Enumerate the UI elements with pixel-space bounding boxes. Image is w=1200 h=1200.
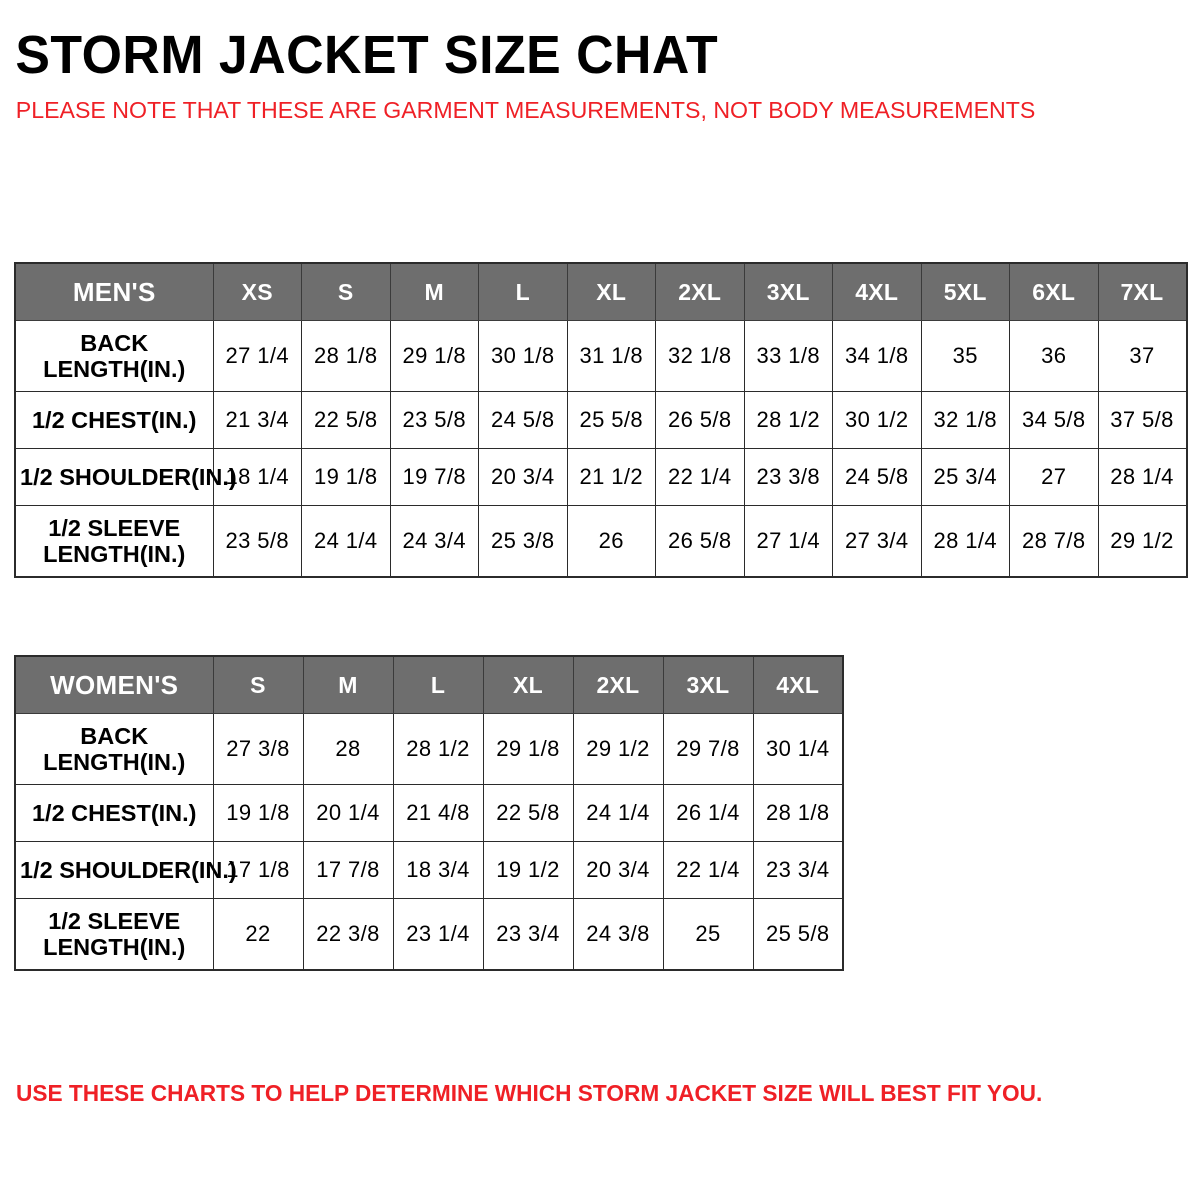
measurement-cell: 28 1/4 bbox=[1098, 449, 1187, 506]
row-label-line: 1/2 CHEST(IN.) bbox=[20, 407, 209, 433]
size-chart-page: STORM JACKET SIZE CHAT PLEASE NOTE THAT … bbox=[0, 0, 1200, 1200]
womens-row-label: 1/2 SLEEVE LENGTH(IN.) bbox=[15, 899, 213, 971]
womens-row-label: 1/2 SHOULDER(IN.) bbox=[15, 842, 213, 899]
mens-size-header: L bbox=[479, 263, 568, 321]
measurement-cell: 22 5/8 bbox=[302, 392, 391, 449]
measurement-cell: 23 3/4 bbox=[483, 899, 573, 971]
womens-table-body: BACK LENGTH(IN.) 27 3/8 28 28 1/2 29 1/8… bbox=[15, 714, 843, 971]
measurement-cell: 24 3/8 bbox=[573, 899, 663, 971]
fit-guidance-note: USE THESE CHARTS TO HELP DETERMINE WHICH… bbox=[16, 1079, 1042, 1109]
row-label-line: 1/2 SLEEVE bbox=[20, 515, 209, 541]
womens-row-label: 1/2 CHEST(IN.) bbox=[15, 785, 213, 842]
measurement-cell: 24 1/4 bbox=[302, 506, 391, 578]
measurement-cell: 30 1/4 bbox=[753, 714, 843, 785]
mens-size-header: 7XL bbox=[1098, 263, 1187, 321]
mens-size-header: 3XL bbox=[744, 263, 833, 321]
measurement-cell: 34 1/8 bbox=[833, 321, 922, 392]
measurement-cell: 19 1/8 bbox=[213, 785, 303, 842]
measurement-cell: 29 1/2 bbox=[1098, 506, 1187, 578]
womens-size-header: 3XL bbox=[663, 656, 753, 714]
measurement-cell: 20 3/4 bbox=[573, 842, 663, 899]
measurement-cell: 25 3/4 bbox=[921, 449, 1010, 506]
measurement-cell: 28 bbox=[303, 714, 393, 785]
measurement-cell: 25 5/8 bbox=[567, 392, 656, 449]
row-label-line: 1/2 SHOULDER(IN.) bbox=[20, 464, 209, 490]
womens-size-header: 4XL bbox=[753, 656, 843, 714]
measurement-cell: 30 1/8 bbox=[479, 321, 568, 392]
womens-size-table-container: WOMEN'S S M L XL 2XL 3XL 4XL BACK LENGTH… bbox=[14, 655, 844, 971]
page-title: STORM JACKET SIZE CHAT bbox=[0, 0, 1152, 84]
row-label-line: 1/2 CHEST(IN.) bbox=[20, 800, 209, 826]
measurement-cell: 28 1/2 bbox=[744, 392, 833, 449]
mens-size-header: 2XL bbox=[656, 263, 745, 321]
row-label-line: BACK bbox=[20, 330, 209, 356]
womens-size-header: 2XL bbox=[573, 656, 663, 714]
womens-header-row: WOMEN'S S M L XL 2XL 3XL 4XL bbox=[15, 656, 843, 714]
measurement-cell: 26 5/8 bbox=[656, 392, 745, 449]
table-row: BACK LENGTH(IN.) 27 1/4 28 1/8 29 1/8 30… bbox=[15, 321, 1187, 392]
womens-row-label: BACK LENGTH(IN.) bbox=[15, 714, 213, 785]
measurement-cell: 21 1/2 bbox=[567, 449, 656, 506]
measurement-cell: 27 bbox=[1010, 449, 1099, 506]
measurement-cell: 20 1/4 bbox=[303, 785, 393, 842]
mens-row-label: 1/2 CHEST(IN.) bbox=[15, 392, 213, 449]
measurement-cell: 19 7/8 bbox=[390, 449, 479, 506]
measurement-cell: 26 bbox=[567, 506, 656, 578]
measurement-cell: 23 5/8 bbox=[213, 506, 302, 578]
measurement-cell: 27 1/4 bbox=[744, 506, 833, 578]
row-label-line: LENGTH(IN.) bbox=[20, 934, 209, 960]
womens-size-header: M bbox=[303, 656, 393, 714]
measurement-cell: 17 1/8 bbox=[213, 842, 303, 899]
measurement-cell: 22 1/4 bbox=[663, 842, 753, 899]
measurement-cell: 28 1/2 bbox=[393, 714, 483, 785]
measurement-cell: 27 1/4 bbox=[213, 321, 302, 392]
measurement-cell: 34 5/8 bbox=[1010, 392, 1099, 449]
measurement-cell: 24 5/8 bbox=[833, 449, 922, 506]
measurement-cell: 21 4/8 bbox=[393, 785, 483, 842]
measurement-cell: 25 5/8 bbox=[753, 899, 843, 971]
womens-table-head: WOMEN'S S M L XL 2XL 3XL 4XL bbox=[15, 656, 843, 714]
measurement-cell: 25 3/8 bbox=[479, 506, 568, 578]
measurement-cell: 28 1/8 bbox=[753, 785, 843, 842]
measurement-cell: 22 1/4 bbox=[656, 449, 745, 506]
womens-size-header: S bbox=[213, 656, 303, 714]
mens-size-header: XL bbox=[567, 263, 656, 321]
table-row: 1/2 SLEEVE LENGTH(IN.) 23 5/8 24 1/4 24 … bbox=[15, 506, 1187, 578]
measurement-cell: 22 5/8 bbox=[483, 785, 573, 842]
measurement-cell: 37 bbox=[1098, 321, 1187, 392]
measurement-cell: 29 7/8 bbox=[663, 714, 753, 785]
measurement-cell: 32 1/8 bbox=[656, 321, 745, 392]
mens-header-row: MEN'S XS S M L XL 2XL 3XL 4XL 5XL 6XL 7X… bbox=[15, 263, 1187, 321]
row-label-line: BACK bbox=[20, 723, 209, 749]
measurement-cell: 31 1/8 bbox=[567, 321, 656, 392]
measurement-cell: 37 5/8 bbox=[1098, 392, 1187, 449]
table-row: 1/2 SHOULDER(IN.) 18 1/4 19 1/8 19 7/8 2… bbox=[15, 449, 1187, 506]
measurement-cell: 27 3/8 bbox=[213, 714, 303, 785]
measurement-cell: 22 bbox=[213, 899, 303, 971]
measurement-cell: 29 1/2 bbox=[573, 714, 663, 785]
table-row: 1/2 CHEST(IN.) 21 3/4 22 5/8 23 5/8 24 5… bbox=[15, 392, 1187, 449]
measurement-cell: 18 1/4 bbox=[213, 449, 302, 506]
table-row: 1/2 CHEST(IN.) 19 1/8 20 1/4 21 4/8 22 5… bbox=[15, 785, 843, 842]
mens-row-label: 1/2 SHOULDER(IN.) bbox=[15, 449, 213, 506]
measurement-cell: 35 bbox=[921, 321, 1010, 392]
mens-size-table-container: MEN'S XS S M L XL 2XL 3XL 4XL 5XL 6XL 7X… bbox=[14, 262, 1188, 578]
mens-size-header: XS bbox=[213, 263, 302, 321]
table-row: BACK LENGTH(IN.) 27 3/8 28 28 1/2 29 1/8… bbox=[15, 714, 843, 785]
row-label-line: LENGTH(IN.) bbox=[20, 749, 209, 775]
measurement-cell: 27 3/4 bbox=[833, 506, 922, 578]
measurement-cell: 18 3/4 bbox=[393, 842, 483, 899]
measurement-cell: 23 3/8 bbox=[744, 449, 833, 506]
measurement-cell: 22 3/8 bbox=[303, 899, 393, 971]
mens-size-header: 5XL bbox=[921, 263, 1010, 321]
table-row: 1/2 SHOULDER(IN.) 17 1/8 17 7/8 18 3/4 1… bbox=[15, 842, 843, 899]
garment-measurement-note: PLEASE NOTE THAT THESE ARE GARMENT MEASU… bbox=[0, 94, 1182, 126]
row-label-line: 1/2 SHOULDER(IN.) bbox=[20, 857, 209, 883]
measurement-cell: 29 1/8 bbox=[483, 714, 573, 785]
measurement-cell: 24 5/8 bbox=[479, 392, 568, 449]
measurement-cell: 28 1/8 bbox=[302, 321, 391, 392]
mens-size-table: MEN'S XS S M L XL 2XL 3XL 4XL 5XL 6XL 7X… bbox=[14, 262, 1188, 578]
measurement-cell: 17 7/8 bbox=[303, 842, 393, 899]
row-label-line: 1/2 SLEEVE bbox=[20, 908, 209, 934]
measurement-cell: 24 3/4 bbox=[390, 506, 479, 578]
mens-size-header: 4XL bbox=[833, 263, 922, 321]
measurement-cell: 20 3/4 bbox=[479, 449, 568, 506]
measurement-cell: 19 1/2 bbox=[483, 842, 573, 899]
mens-row-label: BACK LENGTH(IN.) bbox=[15, 321, 213, 392]
measurement-cell: 23 5/8 bbox=[390, 392, 479, 449]
table-row: 1/2 SLEEVE LENGTH(IN.) 22 22 3/8 23 1/4 … bbox=[15, 899, 843, 971]
mens-size-header: S bbox=[302, 263, 391, 321]
measurement-cell: 30 1/2 bbox=[833, 392, 922, 449]
measurement-cell: 19 1/8 bbox=[302, 449, 391, 506]
measurement-cell: 28 1/4 bbox=[921, 506, 1010, 578]
mens-table-head: MEN'S XS S M L XL 2XL 3XL 4XL 5XL 6XL 7X… bbox=[15, 263, 1187, 321]
womens-size-table: WOMEN'S S M L XL 2XL 3XL 4XL BACK LENGTH… bbox=[14, 655, 844, 971]
measurement-cell: 28 7/8 bbox=[1010, 506, 1099, 578]
measurement-cell: 24 1/4 bbox=[573, 785, 663, 842]
measurement-cell: 25 bbox=[663, 899, 753, 971]
measurement-cell: 33 1/8 bbox=[744, 321, 833, 392]
measurement-cell: 36 bbox=[1010, 321, 1099, 392]
mens-size-header: M bbox=[390, 263, 479, 321]
mens-corner-label: MEN'S bbox=[15, 263, 213, 321]
row-label-line: LENGTH(IN.) bbox=[20, 541, 209, 567]
mens-size-header: 6XL bbox=[1010, 263, 1099, 321]
row-label-line: LENGTH(IN.) bbox=[20, 356, 209, 382]
mens-row-label: 1/2 SLEEVE LENGTH(IN.) bbox=[15, 506, 213, 578]
mens-table-body: BACK LENGTH(IN.) 27 1/4 28 1/8 29 1/8 30… bbox=[15, 321, 1187, 578]
measurement-cell: 23 1/4 bbox=[393, 899, 483, 971]
womens-size-header: XL bbox=[483, 656, 573, 714]
measurement-cell: 26 5/8 bbox=[656, 506, 745, 578]
womens-corner-label: WOMEN'S bbox=[15, 656, 213, 714]
measurement-cell: 21 3/4 bbox=[213, 392, 302, 449]
measurement-cell: 32 1/8 bbox=[921, 392, 1010, 449]
womens-size-header: L bbox=[393, 656, 483, 714]
measurement-cell: 26 1/4 bbox=[663, 785, 753, 842]
measurement-cell: 23 3/4 bbox=[753, 842, 843, 899]
measurement-cell: 29 1/8 bbox=[390, 321, 479, 392]
